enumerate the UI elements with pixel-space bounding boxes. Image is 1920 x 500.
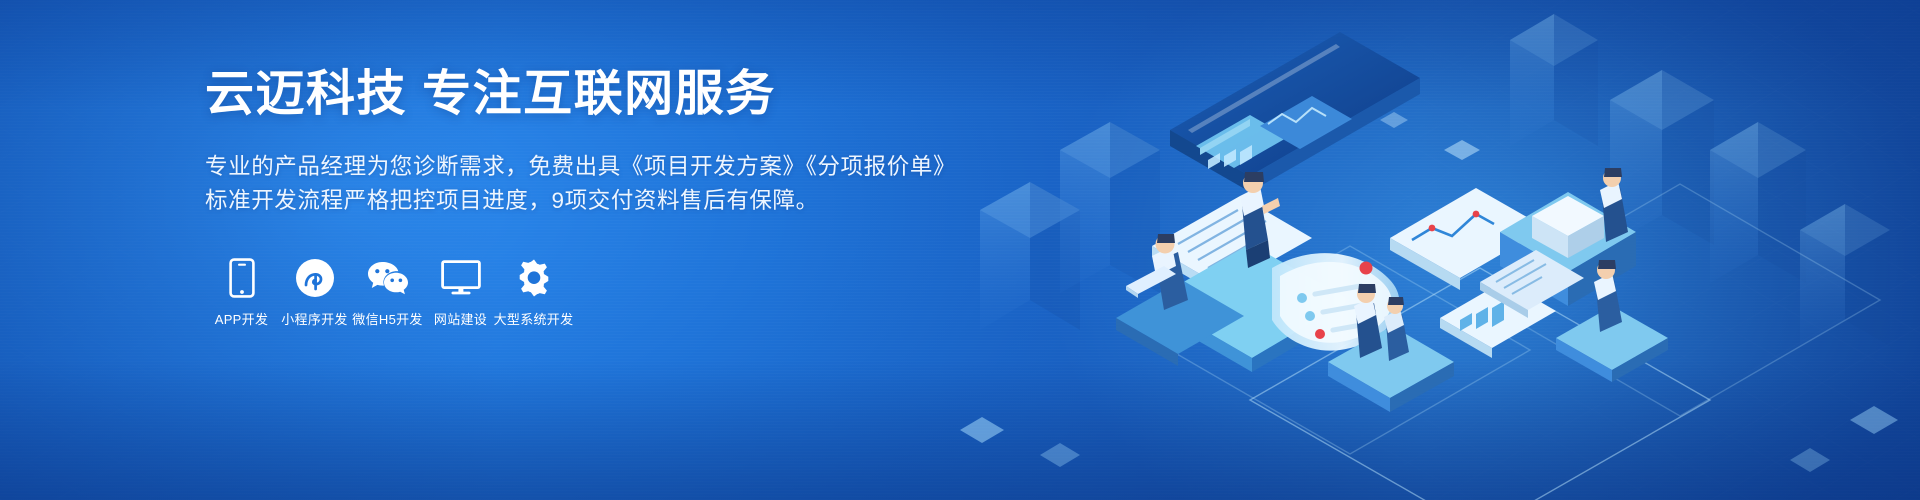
service-label-website: 网站建设 xyxy=(434,313,487,326)
monitor-icon xyxy=(441,256,481,300)
service-label-app: APP开发 xyxy=(215,313,269,326)
banner-content: 云迈科技 专注互联网服务 专业的产品经理为您诊断需求，免费出具《项目开发方案》《… xyxy=(205,66,965,326)
service-label-large-system: 大型系统开发 xyxy=(494,313,574,326)
service-label-mini-program: 小程序开发 xyxy=(281,313,348,326)
service-list: APP开发 小程序开发 xyxy=(205,256,965,326)
mini-program-icon xyxy=(295,256,335,300)
service-item-wechat-h5[interactable]: 微信H5开发 xyxy=(351,256,424,326)
page-title: 云迈科技 专注互联网服务 xyxy=(205,66,965,124)
hero-banner: 云迈科技 专注互联网服务 专业的产品经理为您诊断需求，免费出具《项目开发方案》《… xyxy=(0,0,1920,500)
subtitle-line-2: 标准开发流程严格把控项目进度，9项交付资料售后有保障。 xyxy=(205,184,965,218)
wechat-icon xyxy=(366,256,410,300)
service-item-mini-program[interactable]: 小程序开发 xyxy=(278,256,351,326)
subtitle-line-1: 专业的产品经理为您诊断需求，免费出具《项目开发方案》《分项报价单》 xyxy=(205,150,965,184)
service-item-website[interactable]: 网站建设 xyxy=(424,256,497,326)
service-item-app[interactable]: APP开发 xyxy=(205,256,278,326)
gear-icon xyxy=(514,256,554,300)
mobile-phone-icon xyxy=(229,256,255,300)
service-item-large-system[interactable]: 大型系统开发 xyxy=(497,256,570,326)
service-label-wechat-h5: 微信H5开发 xyxy=(352,313,422,326)
